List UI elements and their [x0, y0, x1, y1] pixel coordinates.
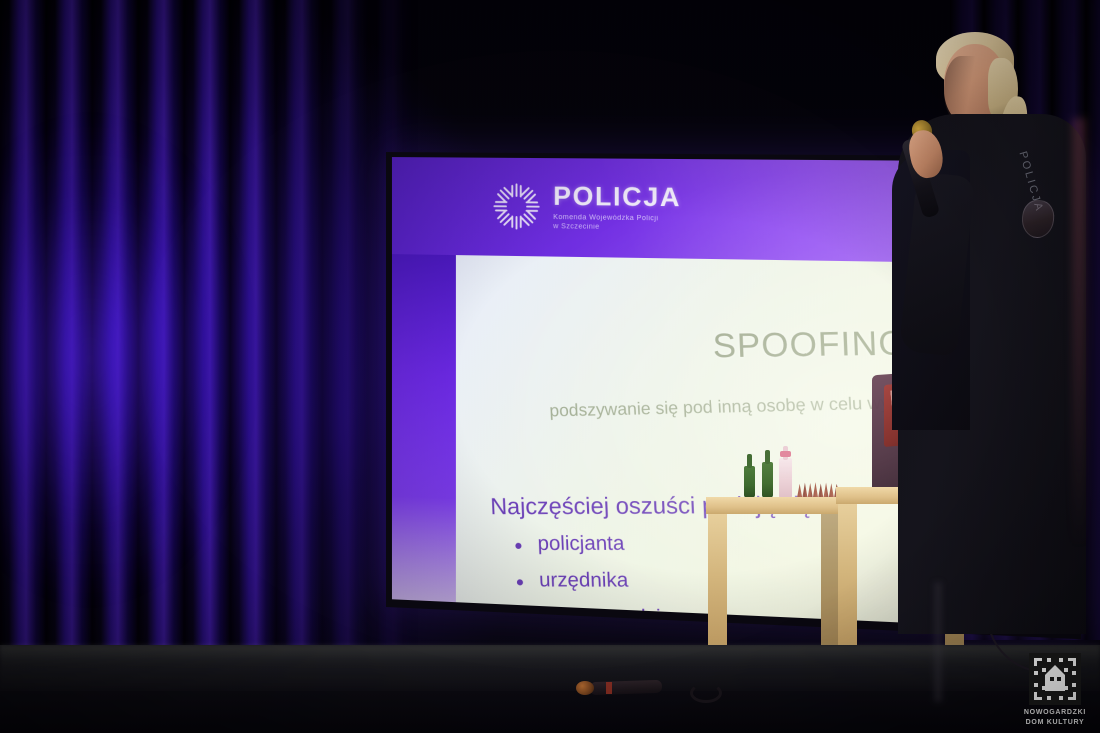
policja-org-sub-line1: Komenda Wojewódzka Policji — [553, 214, 681, 223]
bottle-neck — [747, 454, 752, 468]
policja-org-name: POLICJA — [553, 183, 681, 211]
microphone-head — [576, 681, 594, 695]
table-leg — [838, 504, 857, 655]
wooden-table-left — [706, 497, 842, 655]
slide-left-accent-band — [392, 254, 456, 602]
green-bottle — [744, 466, 755, 498]
policja-star-emblem — [490, 180, 543, 233]
presenter-leg-shadow — [934, 582, 942, 702]
table-leg — [708, 514, 727, 655]
watermark-line-2: DOM KULTURY — [1018, 718, 1092, 727]
stage-presentation-photo: POLICJA Komenda Wojewódzka Policji w Szc… — [0, 0, 1100, 733]
curtain-light-glow — [0, 60, 330, 640]
table-top — [706, 497, 842, 514]
bottle-cap — [780, 451, 791, 457]
green-bottle — [762, 462, 773, 498]
presenter-police-officer: POLICJA — [892, 22, 1100, 702]
microphone-cable — [690, 683, 722, 703]
venue-watermark: NOWOGARDZKI DOM KULTURY — [1018, 653, 1092, 727]
bottle-neck — [765, 450, 770, 464]
water-bottle — [779, 458, 792, 498]
presenter-rim-light — [1072, 118, 1086, 548]
microphone-ring — [606, 682, 612, 694]
microphone-on-floor — [576, 679, 664, 695]
watermark-line-1: NOWOGARDZKI — [1018, 708, 1092, 717]
microphone-body — [590, 680, 662, 696]
nowogardzki-dom-kultury-logo — [1029, 653, 1081, 705]
presenter-face-shadow — [944, 56, 978, 122]
policja-wordmark: POLICJA Komenda Wojewódzka Policji w Szc… — [553, 183, 681, 232]
slide-title: SPOOFING — [712, 323, 908, 365]
